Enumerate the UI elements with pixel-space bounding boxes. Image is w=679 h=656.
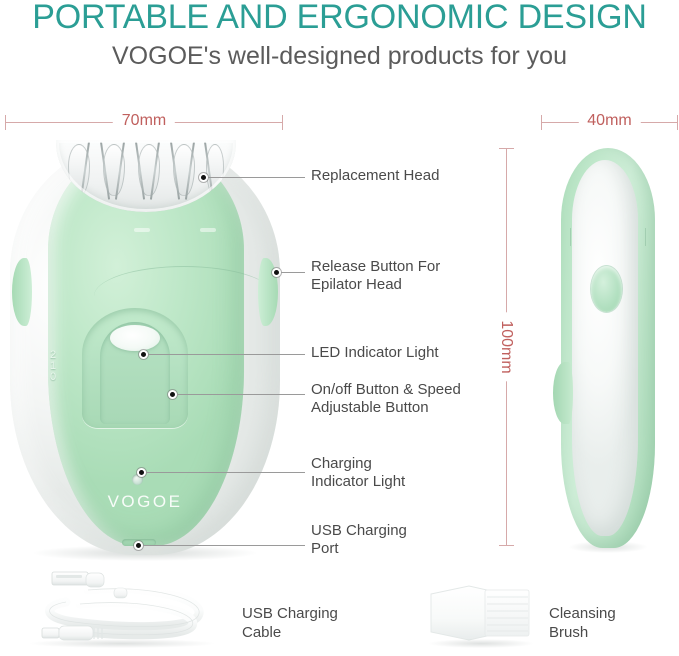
brush-illustration xyxy=(425,578,537,648)
callout-leader-release-button xyxy=(281,272,305,273)
callout-dot-release-button xyxy=(272,268,281,277)
led-indicator-light xyxy=(110,325,160,351)
dimension-width-front: 70mm xyxy=(5,113,283,131)
dimension-label-70mm: 70mm xyxy=(113,112,175,130)
speed-markings: 2 1 0 xyxy=(50,350,56,383)
callout-dot-onoff-speed xyxy=(168,390,177,399)
callout-leader-onoff-speed xyxy=(177,394,305,395)
callout-leader-replacement-head xyxy=(208,177,305,178)
accessory-label-usb-cable: USB Charging Cable xyxy=(242,604,338,642)
dimension-cap-right xyxy=(282,115,283,130)
callout-label-led-indicator: LED Indicator Light xyxy=(311,344,439,362)
dimension-width-side: 40mm xyxy=(541,113,678,131)
accessory-shadow xyxy=(429,639,533,648)
callout-dot-charging-indicator xyxy=(137,468,146,477)
device-notch xyxy=(200,228,216,232)
dimension-label-100mm: 100mm xyxy=(497,312,515,381)
page-title: PORTABLE AND ERGONOMIC DESIGN xyxy=(0,0,679,37)
device-side-view xyxy=(553,148,663,548)
device-white-shell-side xyxy=(572,160,638,536)
release-button-side[interactable] xyxy=(553,362,573,424)
callout-dot-usb-port xyxy=(134,541,143,550)
callout-label-replacement-head: Replacement Head xyxy=(311,167,439,185)
dimension-label-40mm: 40mm xyxy=(578,112,640,130)
accessory-usb-cable xyxy=(22,566,222,650)
dimension-cap-left xyxy=(541,115,542,130)
callout-dot-replacement-head xyxy=(199,173,208,182)
infographic-canvas: PORTABLE AND ERGONOMIC DESIGN VOGOE's we… xyxy=(0,0,679,656)
accessory-label-cleansing-brush: Cleansing Brush xyxy=(549,604,616,642)
callout-label-charging-indicator: Charging Indicator Light xyxy=(311,455,405,491)
callout-label-usb-port: USB Charging Port xyxy=(311,522,407,558)
device-notch xyxy=(134,228,150,232)
callout-label-release-button: Release Button For Epilator Head xyxy=(311,258,440,294)
dimension-cap-left xyxy=(5,115,6,130)
page-subtitle: VOGOE's well-designed products for you xyxy=(0,42,679,71)
callout-dot-led-indicator xyxy=(139,350,148,359)
callout-leader-led-indicator xyxy=(148,354,305,355)
accessory-shadow xyxy=(30,639,214,648)
power-button-side[interactable] xyxy=(591,266,622,312)
callout-label-onoff-speed: On/off Button & Speed Adjustable Button xyxy=(311,381,461,417)
release-button-left[interactable] xyxy=(12,258,32,326)
usb-cable-illustration xyxy=(22,566,222,650)
device-seam xyxy=(570,228,571,246)
dimension-cap-right xyxy=(677,115,678,130)
brand-logo: VOGOE xyxy=(10,492,280,512)
callout-leader-charging-indicator xyxy=(146,472,305,473)
dimension-cap-bottom xyxy=(499,545,514,546)
usb-a-connector xyxy=(52,572,104,587)
callout-leader-usb-port xyxy=(143,545,305,546)
device-seam xyxy=(645,228,646,246)
dimension-cap-top xyxy=(499,148,514,149)
dimension-height-front: 100mm xyxy=(497,148,515,546)
device-front-view: 2 1 0 VOGOE xyxy=(10,140,280,555)
accessory-cleansing-brush xyxy=(425,578,537,648)
speed-mark-0: 0 xyxy=(50,372,56,383)
